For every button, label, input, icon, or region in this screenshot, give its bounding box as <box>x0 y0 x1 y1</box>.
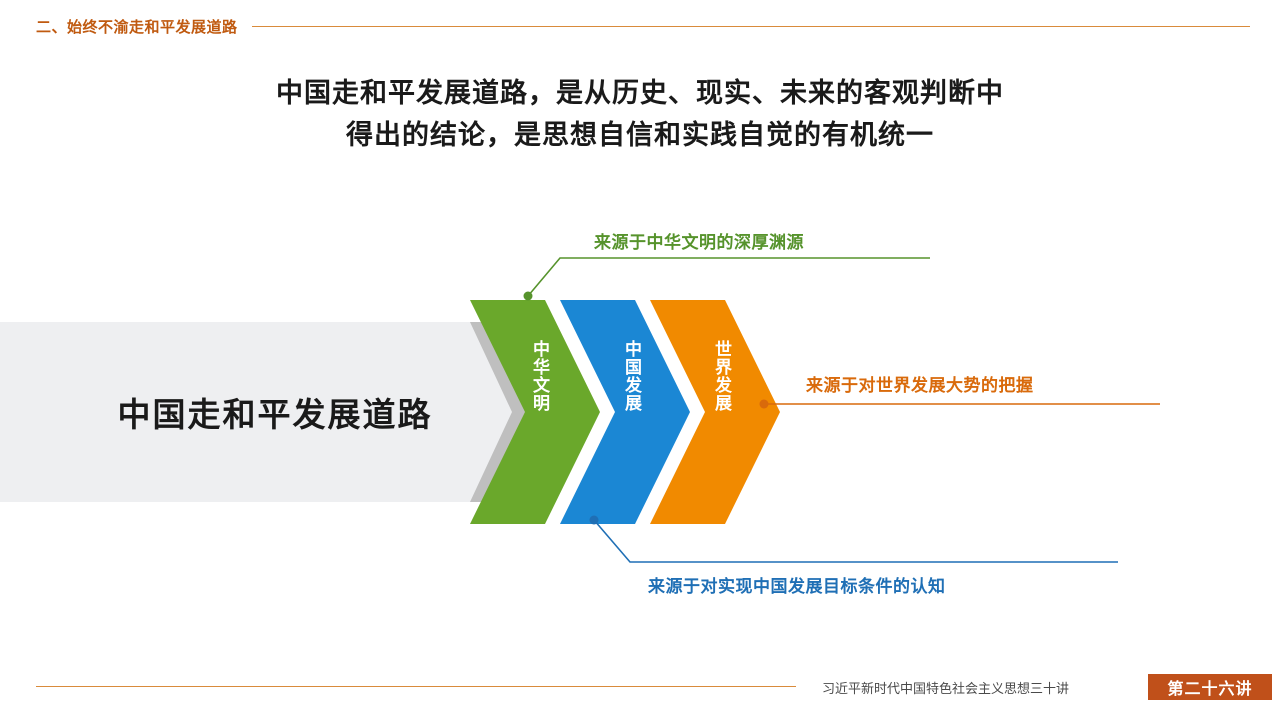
chevron-label-1: 中华文明 <box>520 340 550 412</box>
leader-dot-orange <box>760 400 769 409</box>
footer-lecture-badge: 第二十六讲 <box>1148 674 1272 700</box>
callout-label-orange: 来源于对世界发展大势的把握 <box>806 371 1034 396</box>
chevron-label-2: 中国发展 <box>612 340 642 412</box>
footer-divider <box>36 686 796 687</box>
callout-label-blue: 来源于对实现中国发展目标条件的认知 <box>648 572 946 597</box>
process-diagram: 中国走和平发展道路 中华文明 中国发展 世界发展 来源于中华文明的深厚渊源 来源… <box>0 0 1280 720</box>
leader-line-green <box>528 258 930 296</box>
leader-line-blue <box>594 520 1118 562</box>
chevron-label-3: 世界发展 <box>702 340 732 412</box>
leader-dot-green <box>524 292 533 301</box>
footer-course-title: 习近平新时代中国特色社会主义思想三十讲 <box>822 678 1069 697</box>
leader-dot-blue <box>590 516 599 525</box>
callout-label-green: 来源于中华文明的深厚渊源 <box>594 228 804 253</box>
